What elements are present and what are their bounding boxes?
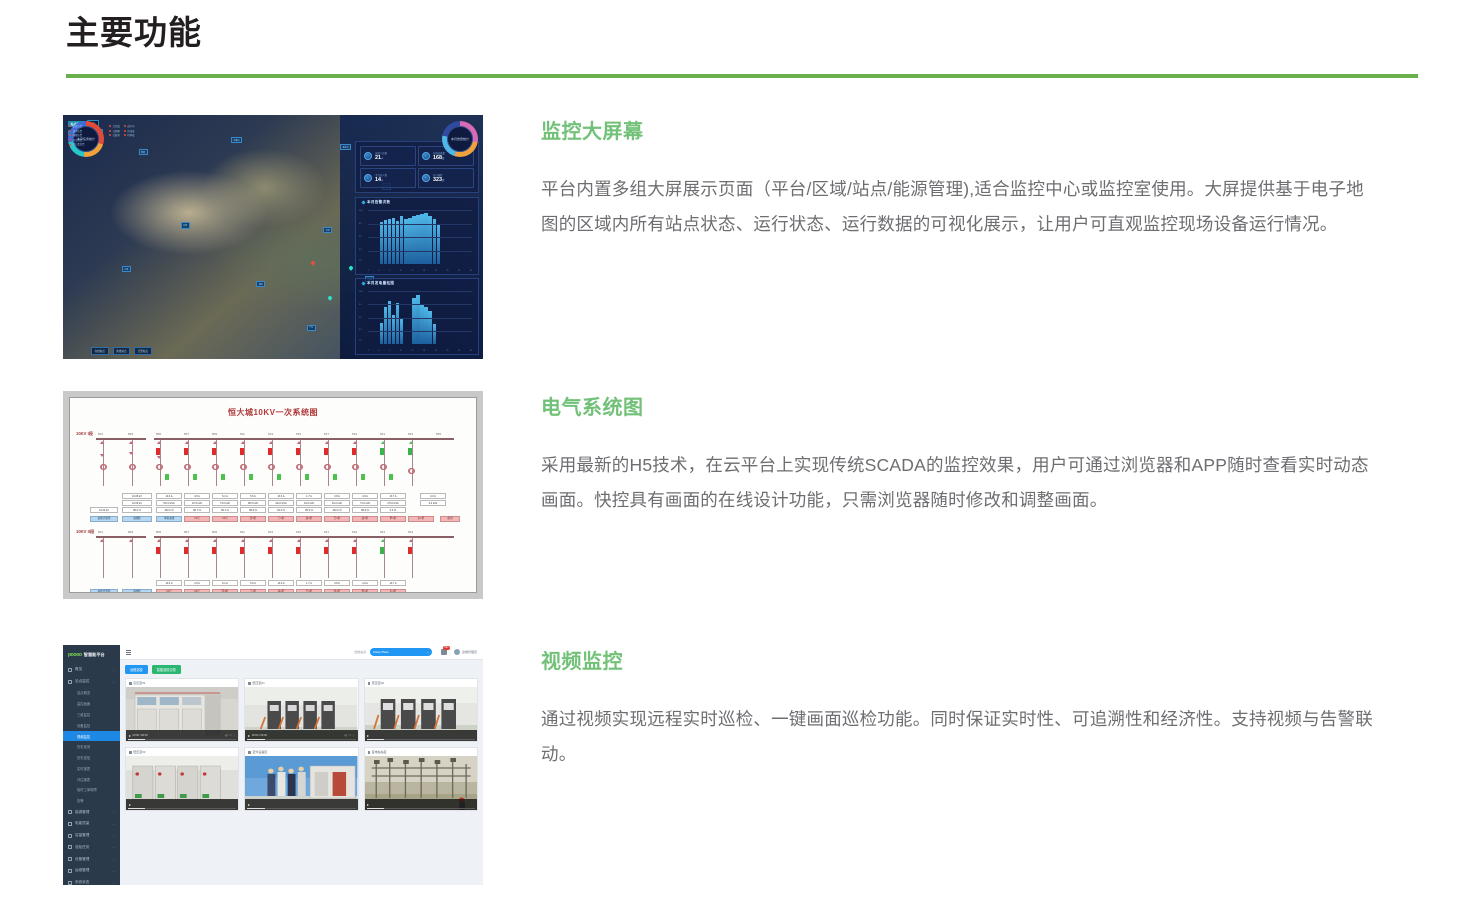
map-region-tag: 甘肃	[181, 222, 190, 228]
sidebar-item-label: 电能质量	[75, 821, 89, 826]
chevron-down-icon: ⌄	[112, 869, 115, 873]
section-heading: 电气系统图	[541, 391, 1376, 420]
app-logo: poooo 智慧能平台	[63, 645, 120, 664]
video-card-header: 变电站站区	[365, 748, 477, 756]
play-icon[interactable]	[367, 735, 369, 737]
sidebar-item-station-monitoring[interactable]: 站点监控 ⌄	[63, 676, 120, 688]
chevron-down-icon: ⌄	[112, 834, 115, 838]
measure-cell: 10.09 kV	[122, 500, 152, 506]
chevron-down-icon: ⌄	[112, 857, 115, 861]
camera-icon	[368, 682, 371, 685]
map-region-tag: 内蒙古	[231, 137, 242, 143]
volume-icon[interactable]: ◁)	[344, 734, 347, 737]
feeder-label: 521	[380, 432, 385, 436]
user-name: 运维管理员	[462, 650, 477, 654]
feeder-label: 523	[408, 432, 413, 436]
measure-cell: 4.5 A	[184, 580, 210, 586]
progress-bar[interactable]	[128, 808, 236, 809]
station-select[interactable]: Kaidy Place ⌄	[370, 648, 432, 656]
feeder-label: 517	[324, 530, 329, 534]
cabinet-tag[interactable]: 丁1柜	[240, 589, 266, 593]
play-icon[interactable]	[248, 804, 250, 806]
sld-canvas: 恒大城10KV一次系统图 10KV I段 501 503 505 507 509…	[69, 397, 477, 593]
x-tick: 22	[446, 350, 448, 352]
section-heading: 视频监控	[541, 645, 1376, 674]
video-thumbnail[interactable]	[245, 756, 357, 810]
cabinet-tag[interactable]: 丁1柜	[268, 516, 294, 522]
sidebar-item-label: 站点监控	[75, 679, 89, 684]
bar-series-generation	[368, 291, 472, 344]
cabinet-tag[interactable]: 进1柜	[296, 516, 322, 522]
measure-cell: 5.6 A	[240, 580, 266, 586]
dashboard-icon	[68, 668, 72, 672]
measure-cell: 98.9 %	[240, 507, 266, 513]
progress-bar[interactable]	[128, 739, 236, 740]
video-app-window: poooo 智慧能平台 概览 ⌄ 站点监控 ⌄ 站点概览 监控画面 三维监控 设…	[63, 645, 483, 885]
menu-toggle-icon[interactable]	[126, 650, 131, 655]
y-tick: 40	[359, 249, 361, 251]
video-card[interactable]: 变电站站区	[364, 747, 478, 811]
feeder-label: 521	[380, 530, 385, 534]
stat-card-2[interactable]: 平台总人数 14人	[360, 168, 416, 188]
video-card-header: 低压室03	[126, 748, 238, 756]
feeder-label: 501	[98, 432, 103, 436]
alarm-count-chart-panel: 本月告警次数 100 80 60 40 20	[355, 197, 479, 275]
stat-unit: 次	[442, 179, 444, 182]
sidebar-item-label: 容量管理	[75, 833, 89, 838]
stat-value: 168	[433, 155, 442, 161]
video-title: 高压室01	[133, 681, 145, 685]
measure-cell: 10.4 A	[156, 493, 182, 499]
y-tick: 80	[359, 223, 361, 225]
measure-cell: 3.8 A	[324, 580, 350, 586]
inspection-icon	[422, 174, 430, 182]
sidebar-subitem-device-monitor[interactable]: 设备监控	[63, 720, 120, 731]
measure-cell: 10.06 kV	[122, 493, 152, 499]
x-tick: 13	[411, 350, 413, 352]
panel-title: 本月发电量柱图	[356, 279, 478, 286]
y-tick: 40	[359, 329, 361, 331]
stat-unit: 人	[381, 157, 383, 160]
video-title: 变电站站区	[372, 750, 387, 754]
feeder-label: 515	[296, 432, 301, 436]
station-select-label: 当前站点:	[354, 650, 367, 654]
cabinet-tag[interactable]: 庚1柜	[324, 589, 350, 593]
measure-cell: 244.0 kVA	[268, 500, 294, 506]
page-header: 主要功能	[66, 14, 1418, 52]
screenshot-video-monitoring: poooo 智慧能平台 概览 ⌄ 站点监控 ⌄ 站点概览 监控画面 三维监控 设…	[63, 645, 483, 885]
progress-bar[interactable]	[367, 808, 475, 809]
sld-title: 恒大城10KV一次系统图	[70, 407, 476, 418]
measure-cell: 98.7 %	[184, 507, 210, 513]
video-thumbnail[interactable]	[126, 756, 238, 810]
avatar	[454, 649, 460, 655]
bar-series-alarms	[368, 210, 472, 264]
x-tick: 1	[368, 350, 369, 352]
feeder-label: 525	[436, 432, 441, 436]
map-region-tag: 新疆	[139, 149, 148, 155]
sld-frame: 恒大城10KV一次系统图 10KV I段 501 503 505 507 509…	[63, 391, 483, 599]
chevron-down-icon: ⌄	[112, 845, 115, 849]
video-controls[interactable]	[126, 799, 238, 810]
x-tick: 28	[470, 270, 472, 272]
sidebar-item-label: 系统状态	[75, 880, 89, 885]
measure-cell: 3.8 A	[324, 493, 350, 499]
section-body: 通过视频实现远程实时巡检、一键画面巡检功能。同时保证实时性、可追溯性和经济性。支…	[541, 702, 1376, 772]
measure-cell: 98.5 kVA	[240, 500, 266, 506]
video-card[interactable]: 高压室01	[125, 678, 239, 742]
x-axis-ticks: 1 4 7 10 13 16 19 22 25 28	[368, 270, 472, 272]
video-card-header: 低压室01	[245, 679, 357, 687]
energy-icon	[68, 810, 72, 814]
person-icon	[364, 152, 372, 160]
stat-card-0[interactable]: 运维人员数 21人	[360, 146, 416, 166]
chevron-down-icon: ⌄	[112, 810, 115, 814]
cabinet-tag[interactable]: 进线计量柜	[90, 589, 118, 593]
cabinet-tag[interactable]: 进线柜	[122, 589, 152, 593]
feeder-label: 509	[212, 432, 217, 436]
sidebar-item-label: 巡检任务	[75, 845, 89, 850]
x-tick: 10	[400, 350, 402, 352]
feeder-label: 511	[240, 530, 245, 534]
sidebar-subitem-realtime-report[interactable]: 实时报表	[63, 763, 120, 774]
volume-icon[interactable]: ◁)	[225, 734, 228, 737]
camera-icon	[368, 751, 371, 754]
logo-mark: poooo	[68, 652, 82, 658]
video-title: 低压室01	[252, 681, 264, 685]
video-controls[interactable]	[245, 799, 357, 810]
feeder-label: 503	[128, 530, 133, 534]
cabinet-tag[interactable]: 01号	[184, 516, 210, 522]
measure-cell: 10.4 A	[156, 580, 182, 586]
y-tick: 100	[359, 210, 363, 212]
sidebar-subitem-alarm[interactable]: 告警	[63, 795, 120, 806]
stat-value: 323	[433, 177, 442, 183]
sidebar-item-system-status[interactable]: 系统状态 ⌄	[63, 877, 120, 885]
app-topbar: 当前站点: Kaidy Place ⌄ 99+ 运维管理员	[120, 645, 483, 660]
progress-bar[interactable]	[367, 739, 475, 740]
video-card-header: 低压室02	[365, 679, 477, 687]
x-tick: 25	[458, 350, 460, 352]
feeder-label: 515	[296, 530, 301, 534]
sidebar-subitem-station-overview[interactable]: 站点概览	[63, 688, 120, 699]
app-sidebar: poooo 智慧能平台 概览 ⌄ 站点监控 ⌄ 站点概览 监控画面 三维监控 设…	[63, 645, 120, 885]
dashboard-canvas: 总装机总量 4253566KW 总发电总量 485342KWH 监控数据总数 1…	[63, 115, 483, 359]
cabinet-tag[interactable]: 母联进线	[156, 516, 182, 522]
measure-cell: 4.6 A	[352, 580, 378, 586]
feeder-label: 517	[324, 432, 329, 436]
feeder-label: 501	[98, 530, 103, 534]
measure-cell: 99.1 %	[212, 507, 238, 513]
cabinet-tag[interactable]: 主1柜	[380, 589, 406, 593]
measure-cell: 972.0 kVA	[156, 500, 182, 506]
camera-icon	[129, 682, 132, 685]
measure-cell: 24.0 kVA	[296, 500, 322, 506]
panel-title: 本月告警次数	[356, 198, 478, 205]
measure-cell: 13.7 A	[380, 493, 406, 499]
x-tick: 10	[400, 270, 402, 272]
sidebar-item-inspection-task[interactable]: 巡检任务 ⌄	[63, 842, 120, 854]
y-tick: 80	[359, 304, 361, 306]
measure-cell: 1.7 A	[296, 493, 322, 499]
x-tick: 13	[411, 270, 413, 272]
x-axis-ticks: 1 4 7 10 13 16 19 22 25 28	[368, 350, 472, 352]
measure-cell: 6.1 A	[212, 580, 238, 586]
measure-cell: 95.9 %	[296, 507, 322, 513]
fullscreen-icon[interactable]: ⛶	[229, 734, 231, 737]
feeder-label: 505	[156, 530, 161, 534]
feeder-label: 519	[352, 530, 357, 534]
video-card-header: 高压室01	[126, 679, 238, 687]
sidebar-subitem-history-telemetry[interactable]: 历史遥测	[63, 741, 120, 752]
section-heading: 监控大屏幕	[541, 115, 1376, 144]
screenshot-monitoring-dashboard: 总装机总量 4253566KW 总发电总量 485342KWH 监控数据总数 1…	[63, 115, 483, 359]
chevron-down-icon: ⌄	[112, 881, 115, 885]
video-thumbnail[interactable]	[365, 687, 477, 741]
video-title: 低压室03	[133, 750, 145, 754]
sidebar-item-overview[interactable]: 概览 ⌄	[63, 664, 120, 676]
sidebar-subitem-temp-work-order[interactable]: 临时工单故障	[63, 785, 120, 796]
measure-cell: 0.0 kVA	[420, 500, 446, 506]
measure-cell: 98.0 %	[122, 507, 152, 513]
fullscreen-icon[interactable]: ⛶	[349, 734, 351, 737]
sidebar-item-ops-mgmt[interactable]: 运维管理 ⌄	[63, 865, 120, 877]
sidebar-item-label: 概览	[75, 667, 82, 672]
video-time: 00:00 / 00:00	[252, 734, 267, 737]
measure-cell: 13.3 A	[268, 580, 294, 586]
measure-cell: 6.1 A	[212, 493, 238, 499]
status-icon	[68, 881, 72, 885]
video-thumbnail[interactable]: 00:00 / 00:00 ◁) ⛶ ⋮	[245, 687, 357, 741]
feeder-label: 511	[240, 432, 245, 436]
station-icon	[68, 680, 72, 684]
sidebar-item-energy[interactable]: 能源管理 ⌄	[63, 806, 120, 818]
cabinet-tag[interactable]: 主1柜	[408, 516, 434, 522]
notification-badge: 99+	[443, 646, 450, 650]
device-icon	[68, 857, 72, 861]
remote-inspection-button[interactable]: 远程巡检	[125, 665, 148, 674]
cabinet-tag[interactable]: 02号	[212, 516, 238, 522]
capacity-icon	[68, 834, 72, 838]
sidebar-item-device-mgmt[interactable]: 设备管理 ⌄	[63, 853, 120, 865]
x-tick: 4	[379, 270, 380, 272]
cabinet-tag[interactable]: 庚1柜	[352, 516, 378, 522]
sidebar-subitem-video-monitor[interactable]: 视频监控	[63, 731, 120, 742]
sidebar-subitem-history-signal[interactable]: 历史遥信	[63, 752, 120, 763]
video-title: 室外设备区	[252, 750, 267, 754]
measure-cell: 4.6 A	[352, 493, 378, 499]
team-icon	[364, 174, 372, 182]
measure-cell: 273.0 kVA	[380, 500, 406, 506]
video-card[interactable]: 低压室02	[364, 678, 478, 742]
camera-icon	[129, 751, 132, 754]
bus1-segment-b	[154, 438, 454, 440]
measure-cell: 1.7 A	[296, 580, 322, 586]
chevron-down-icon: ⌄	[112, 822, 115, 826]
notification-bell-icon[interactable]: 99+	[440, 648, 448, 656]
video-thumbnail[interactable]	[365, 756, 477, 810]
measure-cell: 5.6 A	[240, 493, 266, 499]
measure-cell: 0.0 A	[420, 493, 446, 499]
measure-cell: 94.2 %	[268, 507, 294, 513]
action-buttons: 远程巡检 智能巡检记录	[125, 665, 478, 674]
cabinet-tag[interactable]: 已1柜	[324, 516, 350, 522]
section-body: 采用最新的H5技术，在云平台上实现传统SCADA的监控效果，用户可通过浏览器和A…	[541, 448, 1376, 518]
screenshot-electrical-diagram: 恒大城10KV一次系统图 10KV I段 501 503 505 507 509…	[63, 391, 483, 599]
sidebar-item-label: 能源管理	[75, 810, 89, 815]
feeder-label: 503	[128, 432, 133, 436]
cabinet-tag[interactable]: 02号	[184, 589, 210, 593]
sidebar-item-label: 设备管理	[75, 857, 89, 862]
quality-icon	[68, 822, 72, 826]
feeder-label: 509	[212, 530, 217, 534]
feeder-label: 507	[184, 432, 189, 436]
sidebar-item-power-quality[interactable]: 电能质量 ⌄	[63, 818, 120, 830]
x-tick: 25	[458, 270, 460, 272]
cabinet-tag[interactable]: 西3柜	[212, 589, 238, 593]
x-tick: 22	[446, 270, 448, 272]
x-tick: 1	[368, 270, 369, 272]
y-tick: 20	[359, 260, 361, 262]
cabinet-tag[interactable]: 已1柜	[296, 589, 322, 593]
cabinet-tag[interactable]: 甲1柜	[380, 516, 406, 522]
measure-cell: 81.0 kVA	[324, 500, 350, 506]
play-icon[interactable]	[129, 804, 131, 806]
cabinet-tag[interactable]: 01号	[156, 589, 182, 593]
x-tick: 7	[389, 350, 390, 352]
video-title: 低压室02	[372, 681, 384, 685]
bus2-label: 10KV II段	[76, 529, 94, 535]
ops-icon	[68, 869, 72, 873]
feature-text-video: 视频监控 通过视频实现远程实时巡检、一键画面巡检功能。同时保证实时性、可追溯性和…	[541, 645, 1376, 772]
measure-cell: 0.0 %	[380, 507, 406, 513]
x-tick: 7	[389, 270, 390, 272]
measure-cell: 13.7 A	[380, 580, 406, 586]
sidebar-subitem-monitor-view[interactable]: 监控画面	[63, 698, 120, 709]
feeder-label: 505	[156, 432, 161, 436]
video-card-header: 室外设备区	[245, 748, 357, 756]
page-title: 主要功能	[66, 14, 1418, 52]
play-icon[interactable]	[248, 735, 250, 737]
y-tick: 60	[359, 236, 361, 238]
x-tick: 16	[423, 270, 425, 272]
y-tick: 100	[359, 291, 363, 293]
feature-text-monitoring: 监控大屏幕 平台内置多组大屏展示页面（平台/区域/站点/能源管理),适合监控中心…	[541, 115, 1376, 242]
cabinet-tag[interactable]: 西3柜	[240, 516, 266, 522]
y-tick: 60	[359, 317, 361, 319]
bus1-label: 10KV I段	[76, 431, 93, 437]
sidebar-item-capacity[interactable]: 容量管理 ⌄	[63, 830, 120, 842]
x-tick: 28	[470, 350, 472, 352]
donut-center-label: 本月任务统计	[68, 121, 104, 157]
bus2-segment-b	[154, 536, 454, 538]
section-body: 平台内置多组大屏展示页面（平台/区域/站点/能源管理),适合监控中心或监控室使用…	[541, 172, 1376, 242]
measure-cell: 13.3 A	[268, 493, 294, 499]
sidebar-subitem-assessment-report[interactable]: 评估报表	[63, 774, 120, 785]
legend-item: 待审核	[124, 134, 135, 139]
play-icon[interactable]	[129, 735, 131, 737]
sidebar-item-label: 运维管理	[75, 868, 89, 873]
chevron-down-icon: ⌄	[112, 668, 115, 672]
measure-cell: 10.03 kV	[90, 507, 118, 513]
measure-cell: 4.5 A	[184, 493, 210, 499]
title-underline-rule	[66, 74, 1418, 78]
feeder-label: 507	[184, 530, 189, 534]
video-controls[interactable]	[365, 799, 477, 810]
x-tick: 19	[435, 270, 437, 272]
cabinet-tag[interactable]: 备用	[440, 516, 460, 522]
progress-bar[interactable]	[247, 808, 355, 809]
video-card[interactable]: 低压室03	[125, 747, 239, 811]
feeder-label: 519	[352, 432, 357, 436]
measure-cell: 100.0 %	[156, 507, 182, 513]
cabinet-tag[interactable]: 进1柜	[268, 589, 294, 593]
stat-card-3[interactable]: 在月巡检 323次	[418, 168, 474, 188]
measure-cell: 98.9 %	[352, 507, 378, 513]
feeder-label: 513	[268, 530, 273, 534]
video-time: 00:00 / 00:00	[133, 734, 148, 737]
camera-icon	[248, 751, 251, 754]
measure-cell: 73.0 kVA	[212, 500, 238, 506]
video-grid: 高压室01	[125, 678, 478, 811]
logo-text: 智慧能平台	[84, 652, 105, 658]
cabinet-tag[interactable]: 进线柜	[122, 516, 152, 522]
video-controls[interactable]: 00:00 / 00:00 ◁) ⛶ ⋮	[245, 730, 357, 741]
measure-cell: 10.5 kVA	[184, 500, 210, 506]
cabinet-tag[interactable]: 进线计量柜	[90, 516, 118, 522]
chevron-down-icon: ⌄	[112, 680, 115, 684]
feeder-label: 513	[268, 432, 273, 436]
measure-cell: 100.0 %	[324, 507, 350, 513]
progress-bar[interactable]	[247, 739, 355, 740]
station-select-value: Kaidy Place	[373, 650, 389, 654]
x-tick: 4	[379, 350, 380, 352]
video-main-content: 远程巡检 智能巡检记录 高压室01	[120, 660, 483, 885]
measure-cell: 73.0 kVA	[352, 500, 378, 506]
chevron-down-icon: ⌄	[426, 650, 429, 654]
legend-item: 已取消	[109, 134, 120, 139]
more-icon[interactable]: ⋮	[233, 734, 236, 737]
stat-unit: 人	[381, 179, 383, 182]
video-card[interactable]: 室外设备区	[244, 747, 358, 811]
video-thumbnail[interactable]: 00:00 / 00:00 ◁) ⛶ ⋮	[126, 687, 238, 741]
task-icon	[68, 845, 72, 849]
video-controls[interactable]	[365, 730, 477, 741]
user-menu[interactable]: 运维管理员	[454, 649, 477, 655]
video-card[interactable]: 低压室01	[244, 678, 358, 742]
x-tick: 19	[435, 350, 437, 352]
feeder-label: 523	[408, 530, 413, 534]
donut-center-label: 本月告警统计	[442, 121, 478, 157]
y-tick: 20	[359, 340, 361, 342]
cabinet-tag[interactable]: 甲1柜	[352, 589, 378, 593]
x-tick: 16	[423, 350, 425, 352]
camera-icon	[248, 682, 251, 685]
device-icon	[422, 152, 430, 160]
generation-chart-panel: 本月发电量柱图 100 80 60 40 20	[355, 278, 479, 355]
feature-text-sld: 电气系统图 采用最新的H5技术，在云平台上实现传统SCADA的监控效果，用户可通…	[541, 391, 1376, 518]
more-icon[interactable]: ⋮	[353, 734, 356, 737]
video-controls[interactable]: 00:00 / 00:00 ◁) ⛶ ⋮	[126, 730, 238, 741]
sidebar-subitem-3d-monitor[interactable]: 三维监控	[63, 709, 120, 720]
play-icon[interactable]	[367, 804, 369, 806]
inspection-records-button[interactable]: 智能巡检记录	[152, 665, 181, 674]
stat-unit: 台	[442, 157, 444, 160]
task-donut-legend: 已完成 进行中 已超期 待派发 已取消 待审核	[109, 125, 135, 139]
